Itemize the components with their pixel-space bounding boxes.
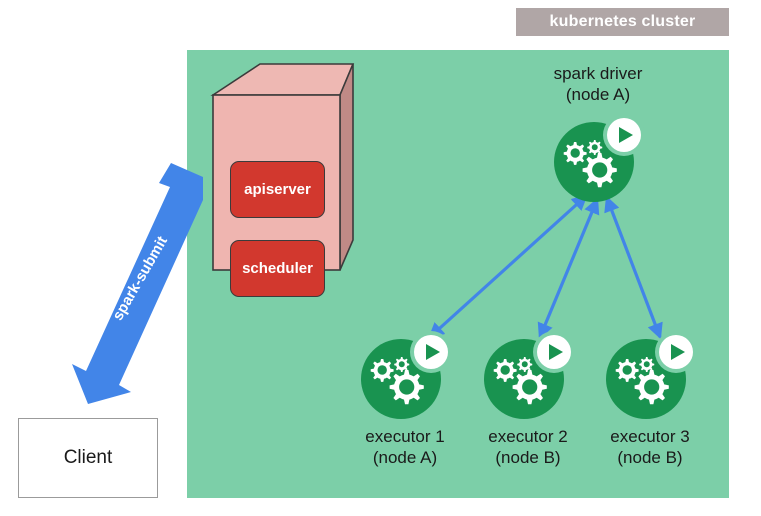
executor-3-subtitle: (node B) bbox=[585, 447, 715, 468]
gears-play-icon bbox=[357, 327, 453, 423]
executor-3-node[interactable] bbox=[602, 327, 698, 423]
service-apiserver-label: apiserver bbox=[244, 181, 311, 198]
gears-play-icon bbox=[480, 327, 576, 423]
service-apiserver[interactable]: apiserver bbox=[230, 161, 325, 218]
executor-1-subtitle: (node A) bbox=[340, 447, 470, 468]
diagram-canvas: kubernetes cluster spark-submit bbox=[0, 0, 761, 516]
spark-driver-subtitle: (node A) bbox=[528, 84, 668, 105]
control-plane-box: apiserver scheduler bbox=[205, 62, 355, 277]
executor-2-title: executor 2 bbox=[488, 427, 567, 446]
gears-play-icon bbox=[550, 110, 646, 206]
executor-3-label: executor 3 (node B) bbox=[585, 426, 715, 468]
spark-submit-arrow-shape bbox=[72, 163, 203, 404]
executor-2-subtitle: (node B) bbox=[463, 447, 593, 468]
box-top-face bbox=[213, 64, 353, 95]
control-plane-services: apiserver scheduler bbox=[213, 95, 340, 270]
spark-submit-arrow bbox=[55, 160, 215, 410]
spark-driver-label: spark driver (node A) bbox=[528, 63, 668, 105]
executor-1-label: executor 1 (node A) bbox=[340, 426, 470, 468]
executor-1-node[interactable] bbox=[357, 327, 453, 423]
executor-1-title: executor 1 bbox=[365, 427, 444, 446]
service-scheduler[interactable]: scheduler bbox=[230, 240, 325, 297]
box-side-face bbox=[340, 64, 353, 270]
client-box[interactable]: Client bbox=[18, 418, 158, 498]
executor-2-node[interactable] bbox=[480, 327, 576, 423]
service-scheduler-label: scheduler bbox=[242, 260, 313, 277]
kubernetes-cluster-badge-label: kubernetes cluster bbox=[550, 13, 696, 31]
gears-play-icon bbox=[602, 327, 698, 423]
kubernetes-cluster-badge: kubernetes cluster bbox=[516, 8, 729, 36]
executor-3-title: executor 3 bbox=[610, 427, 689, 446]
client-label: Client bbox=[64, 447, 113, 469]
executor-2-label: executor 2 (node B) bbox=[463, 426, 593, 468]
spark-driver-node[interactable] bbox=[550, 110, 646, 206]
spark-driver-title: spark driver bbox=[554, 64, 643, 83]
